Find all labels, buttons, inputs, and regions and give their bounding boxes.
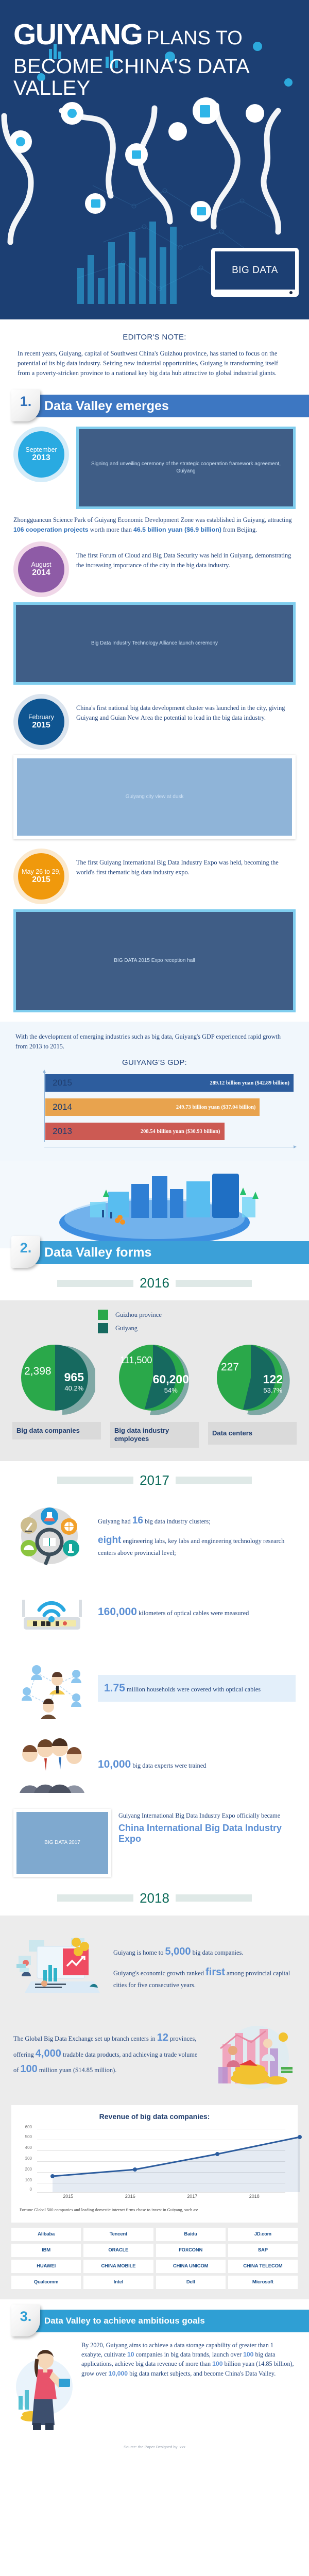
photo-caption: Big Data Industry Technology Alliance la…: [16, 605, 293, 682]
cables-post: kilometers of optical cables were measur…: [137, 1609, 249, 1617]
section-3: 3. Data Valley to achieve ambitious goal…: [0, 2310, 309, 2332]
router-icon: [13, 1581, 91, 1643]
pie-city-number: 965: [64, 1370, 84, 1384]
growth-rank: first: [205, 1967, 225, 1978]
stat-text-households: 1.75 million households were covered wit…: [98, 1675, 296, 1702]
timeline-month: February: [26, 714, 56, 721]
revenue-y-axis: 600 500 400 300 200 100 0: [20, 2125, 34, 2193]
timeline-item: February 2015 China's first national big…: [13, 694, 296, 750]
gdp-intro-text: With the development of emerging industr…: [15, 1032, 294, 1051]
pie-caption: Big data companies: [12, 1422, 101, 1439]
year-divider-2018: 2018: [0, 1879, 309, 1916]
conclusion-hl-3: 100: [212, 2360, 222, 2367]
exchange-provinces: 12: [157, 2032, 168, 2043]
revenue-chart-note: Fortune Global 500 companies and leading…: [20, 2207, 289, 2213]
y-tick: 300: [25, 2156, 32, 2161]
legend-label-city: Guiyang: [115, 1325, 138, 1332]
coins-growth-icon: [208, 2018, 296, 2090]
title-sub: PLANS TO: [146, 27, 243, 49]
big-data-label: BIG DATA: [215, 251, 295, 290]
x-tick: 2015: [63, 2194, 73, 2204]
logo-item: ORACLE: [83, 2244, 153, 2257]
pie-city-share: 40.2%: [64, 1384, 84, 1392]
timeline-year: 2013: [32, 453, 50, 463]
pie-value-city: 60,200 54%: [153, 1372, 189, 1394]
conclusion-block: By 2020, Guiyang aims to achieve a data …: [0, 2332, 309, 2437]
logo-item: CHINA UNICOM: [156, 2260, 226, 2273]
households-post: million households were covered with opt…: [125, 1686, 261, 1693]
timeline-badge-2013: September 2013: [18, 431, 64, 478]
logo-item: Dell: [156, 2276, 226, 2289]
pie-value-city: 965 40.2%: [64, 1370, 84, 1392]
company-logo-grid: Alibaba Tencent Baidu JD.com IBM ORACLE …: [11, 2228, 298, 2289]
conclusion-hl-1: 10: [127, 2351, 134, 2358]
team-icon: [13, 1734, 91, 1795]
divider-line-left: [57, 1280, 133, 1287]
legend-swatch-province: [98, 1310, 108, 1320]
pie-city-share: 54%: [153, 1386, 189, 1394]
y-tick: 600: [25, 2125, 32, 2129]
expo-photo: BIG DATA 2017: [13, 1809, 111, 1877]
divider-line-right: [176, 1894, 252, 1902]
timeline-text-2013: Zhongguancun Science Park of Guiyang Eco…: [13, 512, 296, 541]
companies-post: big data companies.: [191, 1949, 244, 1956]
divider-line-left: [57, 1477, 133, 1484]
revenue-series: [37, 2127, 309, 2193]
photo-caption: Guiyang city view at dusk: [17, 758, 292, 836]
tl-highlight-2: 46.5 billion yuan ($6.9 billion): [133, 526, 221, 533]
labs-post: engineering labs, key labs and engineeri…: [98, 1537, 284, 1556]
companies-pre: Guiyang is home to: [113, 1949, 165, 1956]
tl-text-mid: worth more than: [89, 526, 133, 533]
growth-pre: Guiyang's economic growth ranked: [113, 1970, 205, 1977]
conclusion-text: By 2020, Guiyang aims to achieve a data …: [81, 2341, 296, 2433]
expo-text: Guiyang International Big Data Industry …: [118, 1809, 296, 1844]
conclusion-hl-4: 10,000: [109, 2370, 128, 2377]
pie-value-province: 227: [221, 1361, 239, 1374]
timeline-year: 2015: [32, 721, 50, 730]
tl-highlight-1: 106 cooperation projects: [13, 526, 89, 533]
infographic-page: GUIYANGPLANS TO BECOME CHINA'S DATA VALL…: [0, 0, 309, 2455]
pie-value-province: 2,398: [24, 1365, 51, 1378]
editors-note-heading: EDITOR'S NOTE:: [18, 333, 291, 342]
timeline-badge-2015-feb: February 2015: [18, 699, 64, 745]
section-2-number: 2.: [11, 1236, 40, 1268]
x-tick: 2017: [187, 2194, 197, 2204]
stat-block-exchange-2018: The Global Big Data Exchange set up bran…: [0, 2010, 309, 2097]
isometric-city-illustration: [0, 1161, 309, 1248]
year-label: 2017: [140, 1472, 169, 1488]
y-tick: 500: [25, 2134, 32, 2139]
gdp-bar-value: 208.54 billion yuan ($30.93 billion): [141, 1129, 220, 1134]
logo-item: SAP: [228, 2244, 298, 2257]
logo-item: Qualcomm: [11, 2276, 81, 2289]
gdp-y-axis: [44, 1072, 45, 1142]
logo-item: Microsoft: [228, 2276, 298, 2289]
gdp-bar-row: 2013 208.54 billion yuan ($30.93 billion…: [45, 1123, 294, 1140]
timeline-item: August 2014 The first Forum of Cloud and…: [13, 541, 296, 597]
timeline-photo-2014: Big Data Industry Technology Alliance la…: [13, 602, 296, 685]
timeline-text-2014: The first Forum of Cloud and Big Data Se…: [76, 541, 296, 570]
photo-caption: Signing and unveiling ceremony of the st…: [79, 429, 293, 506]
pie-card-companies: 2,398 965 40.2% Big data companies: [12, 1341, 101, 1439]
title-line2: BECOME CHINA'S DATA VALLEY: [13, 56, 296, 99]
timeline-badge-2014: August 2014: [18, 546, 64, 592]
year-divider-2016: 2016: [0, 1264, 309, 1300]
businesswoman-illustration: [13, 2341, 75, 2433]
logo-item: FOXCONN: [156, 2244, 226, 2257]
timeline-text-2015-feb: China's first national big data developm…: [76, 694, 296, 722]
timeline-month: September: [23, 446, 59, 453]
gdp-bar-value: 289.12 billion yuan ($42.89 billion): [210, 1080, 289, 1086]
expo-pre: Guiyang International Big Data Industry …: [118, 1812, 280, 1819]
companies-count: 5,000: [165, 1946, 191, 1957]
logo-item: CHINA MOBILE: [83, 2260, 153, 2273]
gdp-category-label: 2013: [45, 1126, 72, 1137]
pie-caption: Data centers: [208, 1422, 297, 1445]
pie-city-share: 53.7%: [263, 1386, 283, 1394]
clusters-pre: Guiyang had: [98, 1518, 132, 1525]
logo-item: JD.com: [228, 2228, 298, 2241]
logo-item: IBM: [11, 2244, 81, 2257]
section-1-number: 1.: [11, 389, 40, 421]
pie-city-number: 122: [263, 1372, 283, 1386]
title-brand: GUIYANG: [13, 18, 142, 51]
legend-label-province: Guizhou province: [115, 1311, 162, 1319]
revenue-line-chart: 600 500 400 300 200 100 0: [20, 2127, 289, 2204]
laptop-growth-icon: [13, 1931, 106, 2003]
timeline-photo-2015-feb: Guiyang city view at dusk: [13, 755, 296, 839]
pie-value-province: 111,500: [120, 1355, 152, 1366]
pie-card-datacenters: 227 122 53.7% Data centers: [208, 1341, 297, 1445]
timeline-item: September 2013 Signing and unveiling cer…: [13, 427, 296, 509]
stat-block-optical-cables: 160,000 kilometers of optical cables wer…: [0, 1574, 309, 1650]
pie-chart-companies: 2,398 965 40.2%: [18, 1341, 95, 1418]
x-tick: 2018: [249, 2194, 260, 2204]
labs-count: eight: [98, 1535, 121, 1546]
stat-text-companies-2018: Guiyang is home to 5,000 big data compan…: [113, 1944, 296, 1990]
logo-item: CHINA TELECOM: [228, 2260, 298, 2273]
legend-item: Guizhou province: [98, 1310, 211, 1320]
pie-city-number: 60,200: [153, 1372, 189, 1386]
network-people-icon: [13, 1657, 91, 1719]
timeline-badge-2015-may: May 26 to 29, 2015: [18, 853, 64, 900]
stat-block-companies-2018: Guiyang is home to 5,000 big data compan…: [0, 1924, 309, 2010]
stat-text-exchange: The Global Big Data Exchange set up bran…: [13, 2030, 201, 2077]
gdp-bar-chart: 2015 289.12 billion yuan ($42.89 billion…: [15, 1074, 294, 1147]
divider-line-left: [57, 1894, 133, 1902]
stat-block-clusters: Guiyang had 16 big data industry cluster…: [0, 1498, 309, 1574]
expo-block: BIG DATA 2017 Guiyang International Big …: [0, 1803, 309, 1879]
conclusion-hl-2: 100: [243, 2351, 253, 2358]
pies-section-2016: Guizhou province Guiyang 2,398 965: [0, 1300, 309, 1461]
gdp-chart-section: With the development of emerging industr…: [0, 1022, 309, 1161]
photo-caption: BIG DATA 2015 Expo reception hall: [16, 912, 293, 1010]
experts-post: big data experts were trained: [131, 1762, 206, 1769]
research-icon: [13, 1505, 91, 1567]
households-count: 1.75: [104, 1682, 125, 1694]
cables-count: 160,000: [98, 1606, 137, 1618]
tl-text-post: from Beijing.: [221, 526, 257, 533]
pie-group: 2,398 965 40.2% Big data companies 111,5…: [12, 1341, 297, 1448]
timeline-year: 2014: [32, 568, 50, 578]
section-2: 2. Data Valley forms: [0, 1241, 309, 1264]
timeline-photo-2013: Signing and unveiling ceremony of the st…: [76, 427, 296, 509]
editors-note-body: In recent years, Guiyang, capital of Sou…: [18, 349, 291, 378]
timeline-text-2015-may: The first Guiyang International Big Data…: [76, 849, 296, 877]
section-2018: Guiyang is home to 5,000 big data compan…: [0, 1916, 309, 2299]
y-tick: 0: [30, 2187, 32, 2192]
hero-title: GUIYANGPLANS TO BECOME CHINA'S DATA VALL…: [0, 0, 309, 99]
year-label: 2016: [140, 1275, 169, 1291]
logo-item: Intel: [83, 2276, 153, 2289]
stat-block-households: 1.75 million households were covered wit…: [0, 1650, 309, 1726]
big-data-monitor: BIG DATA: [211, 248, 299, 297]
revenue-x-axis: 2015 2016 2017 2018: [37, 2194, 285, 2204]
legend-item: Guiyang: [98, 1323, 211, 1333]
y-tick: 400: [25, 2145, 32, 2150]
logo-item: Tencent: [83, 2228, 153, 2241]
pie-card-employees: 111,500 60,200 54% Big data industry emp…: [110, 1341, 199, 1448]
logo-item: HUAWEI: [11, 2260, 81, 2273]
year-label: 2018: [140, 1890, 169, 1906]
x-tick: 2016: [125, 2194, 135, 2204]
clusters-count: 16: [132, 1515, 143, 1526]
pie-caption: Big data industry employees: [110, 1422, 199, 1448]
gdp-bar-value: 249.73 billion yuan ($37.04 billion): [176, 1105, 256, 1110]
gdp-bar-2013: 208.54 billion yuan ($30.93 billion): [45, 1123, 225, 1140]
monitor-dot-icon: [289, 291, 293, 294]
revenue-chart-title: Revenue of big data companies:: [20, 2112, 289, 2121]
stat-block-experts: 10,000 big data experts were trained: [0, 1726, 309, 1803]
conclusion-mid-1: companies in big data brands, launch ove…: [134, 2351, 244, 2358]
clusters-post: big data industry clusters;: [143, 1518, 211, 1525]
logo-item: Alibaba: [11, 2228, 81, 2241]
timeline-month: May 26 to 29,: [20, 868, 63, 875]
conclusion-mid-4: big data market subjects, and become Chi…: [128, 2370, 276, 2377]
tl-text-pre: Zhongguancun Science Park of Guiyang Eco…: [13, 516, 292, 523]
gdp-bar-2014: 249.73 billion yuan ($37.04 billion): [45, 1098, 260, 1116]
gdp-category-label: 2015: [45, 1078, 72, 1088]
pie-chart-datacenters: 227 122 53.7%: [214, 1341, 291, 1418]
pie-chart-employees: 111,500 60,200 54%: [116, 1341, 193, 1418]
pie-legend: Guizhou province Guiyang: [98, 1310, 211, 1333]
year-divider-2017: 2017: [0, 1461, 309, 1498]
divider-line-right: [176, 1280, 252, 1287]
section-3-title: Data Valley to achieve ambitious goals: [18, 2310, 309, 2332]
experts-count: 10,000: [98, 1758, 131, 1770]
exchange-post: million yuan ($14.85 million).: [38, 2066, 117, 2074]
revenue-chart-card: Revenue of big data companies: 600 500 4…: [11, 2105, 298, 2223]
editors-note: EDITOR'S NOTE: In recent years, Guiyang,…: [0, 319, 309, 387]
gdp-bar-2015: 289.12 billion yuan ($42.89 billion): [45, 1074, 294, 1092]
timeline: September 2013 Signing and unveiling cer…: [0, 417, 309, 1012]
gdp-chart-title: GUIYANG'S GDP:: [15, 1058, 294, 1067]
page-footer: Source: the Paper Designed by: xxx: [0, 2437, 309, 2455]
exchange-volume: 100: [20, 2063, 37, 2075]
timeline-year: 2015: [32, 875, 50, 885]
divider-line-right: [176, 1477, 252, 1484]
stat-text-optical-cables: 160,000 kilometers of optical cables wer…: [98, 1604, 296, 1620]
section-1: 1. Data Valley emerges: [0, 395, 309, 417]
stat-text-experts: 10,000 big data experts were trained: [98, 1756, 296, 1773]
photo-caption: BIG DATA 2017: [16, 1812, 108, 1874]
section-2-title: Data Valley forms: [18, 1241, 309, 1264]
y-tick: 200: [25, 2167, 32, 2172]
expo-new-name: China International Big Data Industry Ex…: [118, 1823, 296, 1844]
gdp-category-label: 2014: [45, 1102, 72, 1112]
logo-item: Baidu: [156, 2228, 226, 2241]
y-tick: 100: [25, 2178, 32, 2182]
timeline-item: May 26 to 29, 2015 The first Guiyang Int…: [13, 849, 296, 904]
exchange-pre: The Global Big Data Exchange set up bran…: [13, 2035, 157, 2042]
timeline-photo-slot: Signing and unveiling ceremony of the st…: [76, 427, 296, 509]
timeline-photo-2015-may: BIG DATA 2015 Expo reception hall: [13, 909, 296, 1012]
gdp-bar-row: 2015 289.12 billion yuan ($42.89 billion…: [45, 1074, 294, 1092]
stat-text-clusters: Guiyang had 16 big data industry cluster…: [98, 1514, 296, 1558]
timeline-month: August: [29, 561, 54, 568]
section-3-number: 3.: [11, 2304, 40, 2336]
legend-swatch-city: [98, 1323, 108, 1333]
pie-value-city: 122 53.7%: [263, 1372, 283, 1394]
gdp-bar-row: 2014 249.73 billion yuan ($37.04 billion…: [45, 1098, 294, 1116]
hero-header: GUIYANGPLANS TO BECOME CHINA'S DATA VALL…: [0, 0, 309, 319]
section-1-title: Data Valley emerges: [18, 395, 309, 417]
gdp-x-axis: [44, 1147, 294, 1147]
exchange-products: 4,000: [36, 2048, 61, 2059]
